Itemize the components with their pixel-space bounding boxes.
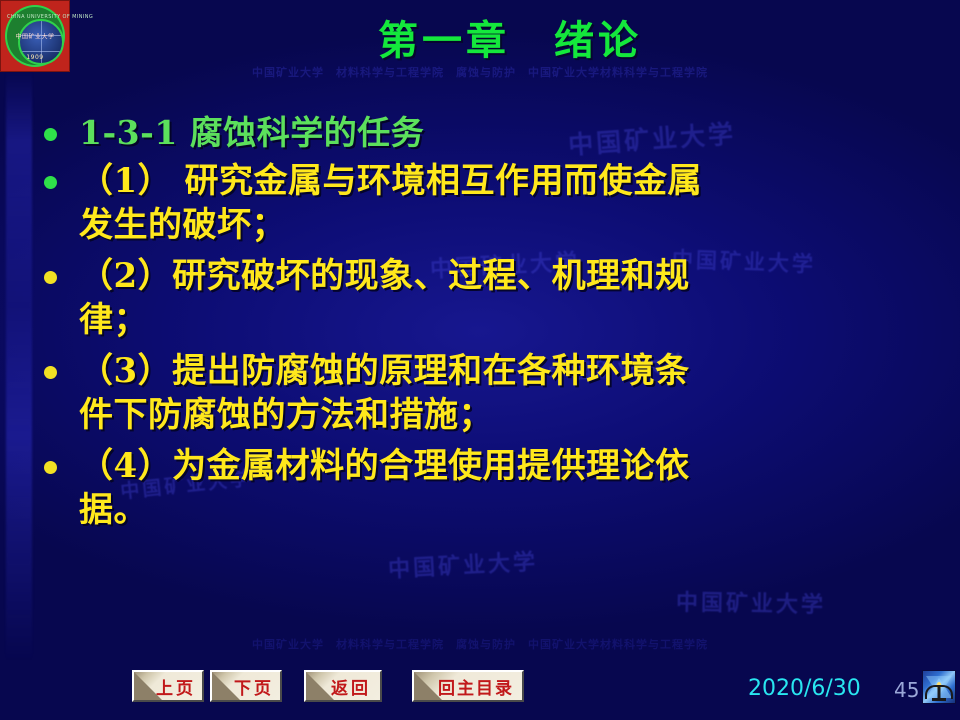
bullet-marker-icon [44,176,57,189]
list-item-text: （3）提出防腐蚀的原理和在各种环境条 件下防腐蚀的方法和措施； [79,350,930,437]
lamp-base-shape [932,698,946,701]
logo-outer-ring: CHINA UNIVERSITY OF MINING 中国矿业大学 1909 [5,5,65,67]
list-item-line: 1-3-1 腐蚀科学的任务 [79,112,930,154]
list-item-line: （3）提出防腐蚀的原理和在各种环境条 [79,350,930,394]
bullet-marker-icon [44,366,57,379]
university-logo: CHINA UNIVERSITY OF MINING 中国矿业大学 1909 [0,0,70,72]
slide-body: 1-3-1 腐蚀科学的任务 （1） 研究金属与环境相互作用而使金属 发生的破坏；… [44,112,930,540]
slide-footer: 上页 下页 返回 回主目录 2020/6/30 45 [0,662,960,720]
logo-chinese-name: 中国矿业大学 [15,32,54,41]
list-item-line: （1） 研究金属与环境相互作用而使金属 [79,160,930,204]
list-item-line: 件下防腐蚀的方法和措施； [79,394,930,438]
bullet-marker-icon [44,461,57,474]
watermark-ghost-text: 中国矿业大学 [387,544,538,584]
list-item: （2）研究破坏的现象、过程、机理和规 律； [44,255,930,342]
list-item-line: 发生的破坏； [79,204,930,248]
back-button[interactable]: 返回 [304,670,382,702]
list-item: （3）提出防腐蚀的原理和在各种环境条 件下防腐蚀的方法和措施； [44,350,930,437]
watermark-ghost-text: 中国矿业大学 [676,585,827,620]
list-item-line: 据。 [79,489,930,533]
bullet-marker-icon [44,271,57,284]
watermark-top-strip: 中国矿业大学 材料科学与工程学院 腐蚀与防护 中国矿业大学材料科学与工程学院 [0,64,960,80]
list-item: 1-3-1 腐蚀科学的任务 [44,112,930,154]
next-page-button[interactable]: 下页 [210,670,282,702]
bullet-marker-icon [44,128,57,141]
list-item-line: 律； [79,299,930,343]
list-item: （4）为金属材料的合理使用提供理论依 据。 [44,445,930,532]
miners-lamp-emblem-icon [922,670,956,704]
main-menu-button[interactable]: 回主目录 [412,670,524,702]
page-title: 第一章 绪论 [80,8,940,66]
watermark-left-band [6,70,32,660]
previous-page-button[interactable]: 上页 [132,670,204,702]
presentation-slide: 中国矿业大学 材料科学与工程学院 腐蚀与防护 中国矿业大学材料科学与工程学院 中… [0,0,960,720]
list-item-text: 1-3-1 腐蚀科学的任务 [79,112,930,154]
list-item-text: （1） 研究金属与环境相互作用而使金属 发生的破坏； [79,160,930,247]
logo-founding-year: 1909 [7,54,63,61]
list-item-line: （4）为金属材料的合理使用提供理论依 [79,445,930,489]
list-item-text: （2）研究破坏的现象、过程、机理和规 律； [79,255,930,342]
list-item: （1） 研究金属与环境相互作用而使金属 发生的破坏； [44,160,930,247]
page-number: 45 [894,678,919,702]
watermark-bottom-strip: 中国矿业大学 材料科学与工程学院 腐蚀与防护 中国矿业大学材料科学与工程学院 [0,636,960,652]
list-item-text: （4）为金属材料的合理使用提供理论依 据。 [79,445,930,532]
date-label: 2020/6/30 [748,676,861,701]
list-item-line: （2）研究破坏的现象、过程、机理和规 [79,255,930,299]
